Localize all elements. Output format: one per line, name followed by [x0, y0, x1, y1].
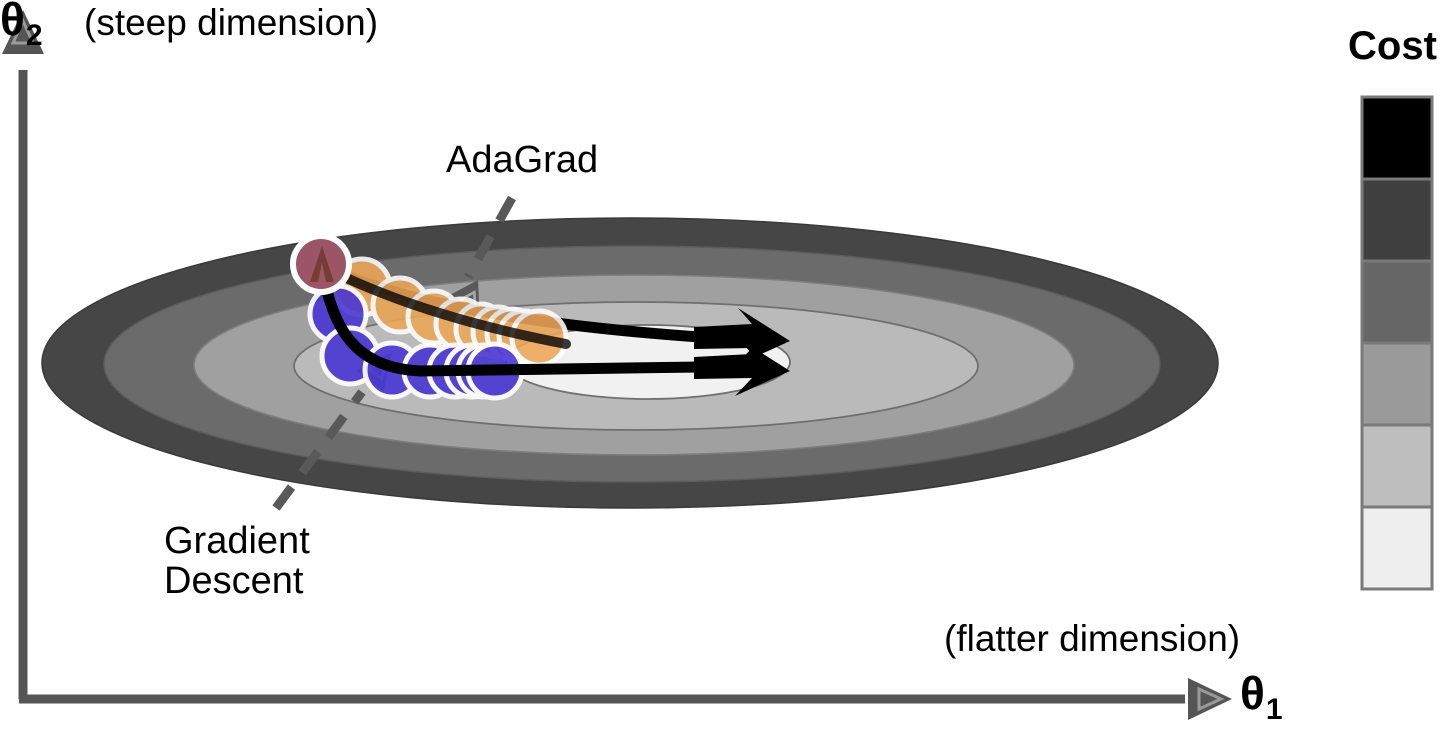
cbar-band-2 — [1362, 261, 1432, 343]
cbar-band-5 — [1362, 507, 1432, 589]
x-axis-arrowhead — [1188, 678, 1232, 720]
gradient-descent-label-line-1: Gradient — [164, 522, 310, 562]
x-axis-subscript: 1 — [1266, 693, 1283, 726]
diagram-canvas: θ2 (steep dimension) θ1 (flatter dimensi… — [0, 0, 1440, 739]
x-axis-label: θ1 — [1240, 670, 1282, 718]
gradient-descent-label: Gradient Descent — [164, 522, 310, 601]
cbar-band-3 — [1362, 343, 1432, 425]
start-point — [293, 236, 349, 292]
cost-colorbar — [1362, 97, 1432, 589]
y-axis-label: θ2 — [0, 0, 42, 44]
y-axis-dimension-note: (steep dimension) — [84, 4, 378, 42]
cbar-band-1 — [1362, 179, 1432, 261]
cbar-band-0 — [1362, 97, 1432, 179]
colorbar-title: Cost — [1348, 26, 1437, 68]
gradient-descent-label-line-2: Descent — [164, 562, 310, 602]
x-axis-dimension-note: (flatter dimension) — [944, 620, 1240, 658]
adagrad-label: AdaGrad — [446, 141, 598, 181]
cbar-band-4 — [1362, 425, 1432, 507]
y-axis-subscript: 2 — [26, 19, 43, 52]
y-axis-symbol: θ — [0, 0, 25, 45]
x-axis-symbol: θ — [1240, 667, 1265, 719]
